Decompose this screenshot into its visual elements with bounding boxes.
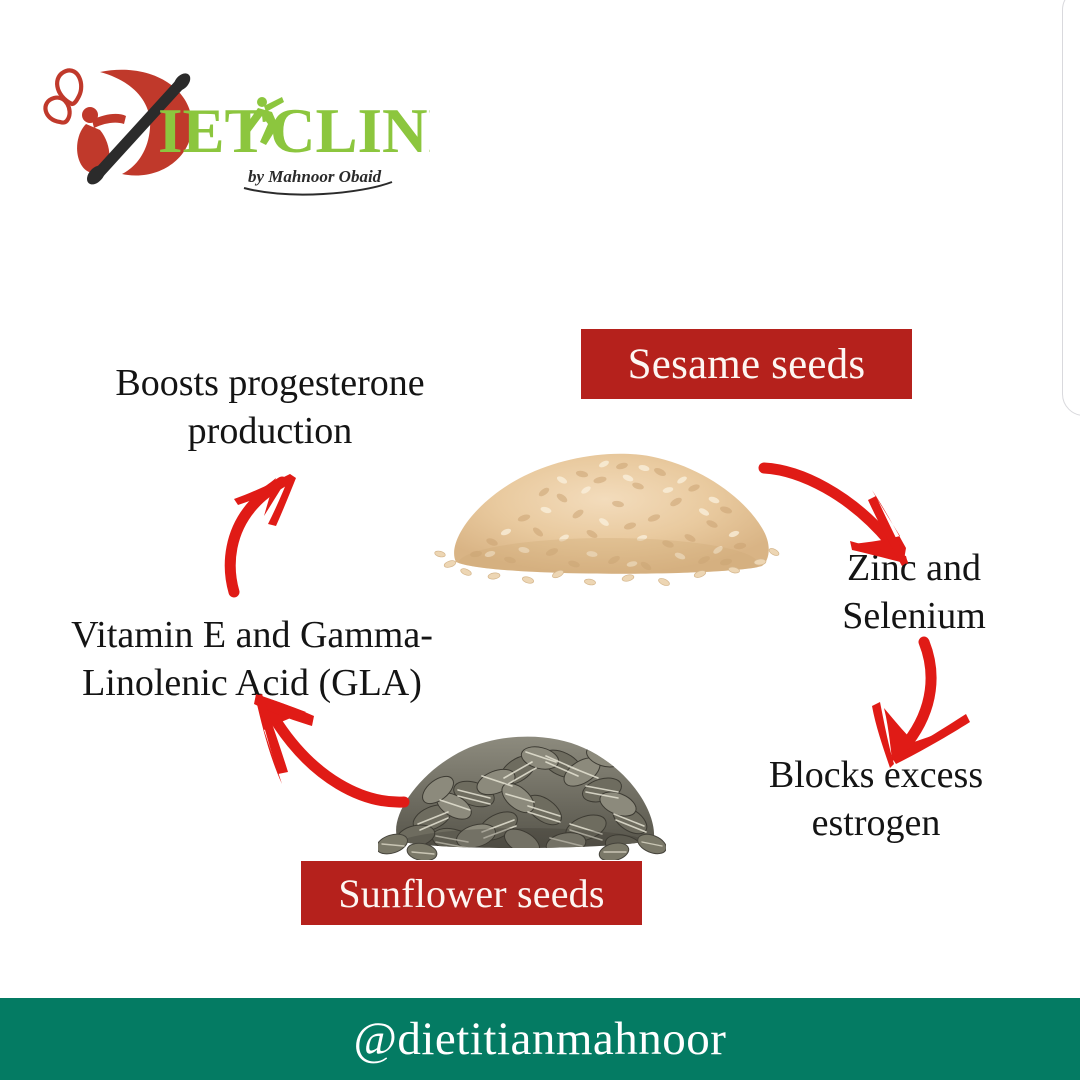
sesame-seeds-image <box>432 414 784 594</box>
logo-wordmark-second: CLINIC <box>270 96 430 166</box>
diet-clinic-logo: IET CLINIC by Mahnoor Obaid <box>30 42 430 197</box>
banner-sesame-seeds: Sesame seeds <box>581 329 912 399</box>
arrow-up-left-icon-2 <box>226 678 412 818</box>
arrow-down-left-icon <box>836 636 986 776</box>
arrow-down-right-icon <box>758 438 948 568</box>
scroll-panel-edge <box>1062 0 1080 416</box>
logo-tagline: by Mahnoor Obaid <box>248 167 382 186</box>
sunflower-seeds-image <box>378 694 666 860</box>
footer-bar: @dietitianmahnoor <box>0 998 1080 1080</box>
infographic-canvas: IET CLINIC by Mahnoor Obaid Sesame seeds… <box>0 0 1080 1080</box>
instagram-handle: @dietitianmahnoor <box>354 1012 727 1066</box>
arrow-up-left-icon <box>168 452 358 592</box>
banner-sunflower-seeds: Sunflower seeds <box>301 861 642 925</box>
label-boosts-progesterone: Boosts progesterone production <box>70 360 470 456</box>
